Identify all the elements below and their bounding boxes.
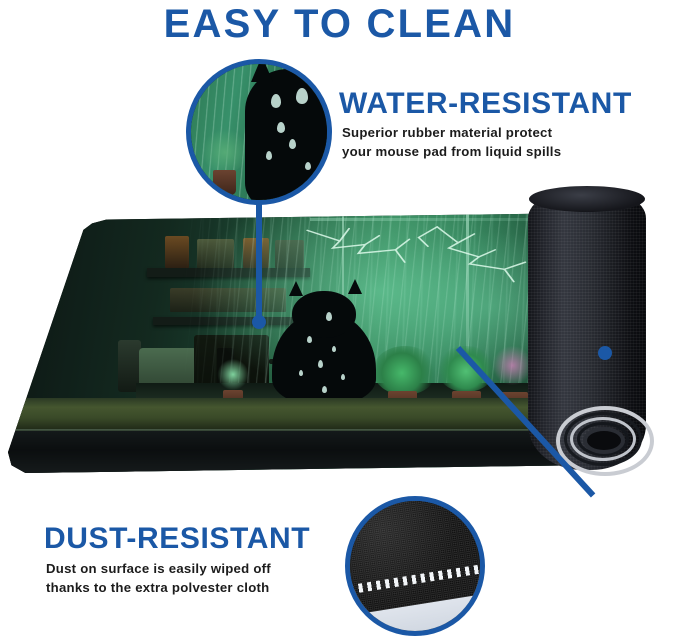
water-droplet [326, 312, 332, 321]
water-droplet [322, 386, 327, 393]
flower-pot [213, 170, 236, 194]
rolled-edge [528, 187, 646, 470]
plant-foliage [217, 359, 249, 390]
water-droplet [277, 122, 285, 133]
cat-ear-left [289, 281, 303, 296]
cat-ear-right [292, 59, 314, 75]
water-droplet [305, 162, 311, 170]
water-droplet [341, 374, 345, 380]
plant-foliage [373, 346, 437, 395]
cat-ear-left [251, 59, 273, 82]
roll-top-cap [529, 186, 645, 212]
feature-body-dust-resistant: Dust on surface is easily wiped off than… [46, 560, 271, 597]
leader-endpoint-dust [598, 346, 612, 360]
cat-silhouette-closeup [245, 69, 332, 205]
callout-circle-dust-resistant [345, 496, 485, 636]
water-droplet [299, 370, 303, 376]
leader-endpoint-water [252, 315, 266, 329]
water-droplet [266, 151, 272, 160]
feature-body-line: your mouse pad from liquid spills [342, 143, 561, 162]
roll-spiral-end [556, 406, 646, 468]
callout-water-artwork [191, 64, 327, 200]
cat-ear-right [348, 279, 362, 294]
mouse-pad-surface [8, 213, 588, 473]
water-droplet [296, 88, 308, 104]
feature-body-line: Dust on surface is easily wiped off [46, 560, 271, 579]
window-sill [8, 398, 588, 432]
water-droplet [318, 360, 323, 368]
pad-thickness-edge [8, 431, 588, 473]
page-title: EASY TO CLEAN [0, 2, 679, 47]
feature-body-water-resistant: Superior rubber material protect your mo… [342, 124, 561, 161]
feature-body-line: Superior rubber material protect [342, 124, 561, 143]
callout-dust-artwork [350, 501, 480, 631]
mouse-pad-product-image [0, 185, 679, 480]
plant-foliage [202, 127, 248, 173]
cat-silhouette [272, 286, 376, 406]
callout-circle-water-resistant [186, 59, 332, 205]
roll-core [583, 427, 625, 454]
feature-title-water-resistant: WATER-RESISTANT [339, 88, 632, 120]
water-droplet [271, 94, 281, 108]
feature-title-dust-resistant: DUST-RESISTANT [44, 523, 310, 555]
leader-line-water [256, 200, 262, 322]
cat-head [292, 291, 357, 339]
feature-body-line: thanks to the extra polvester cloth [46, 579, 271, 598]
water-droplet [289, 139, 296, 149]
